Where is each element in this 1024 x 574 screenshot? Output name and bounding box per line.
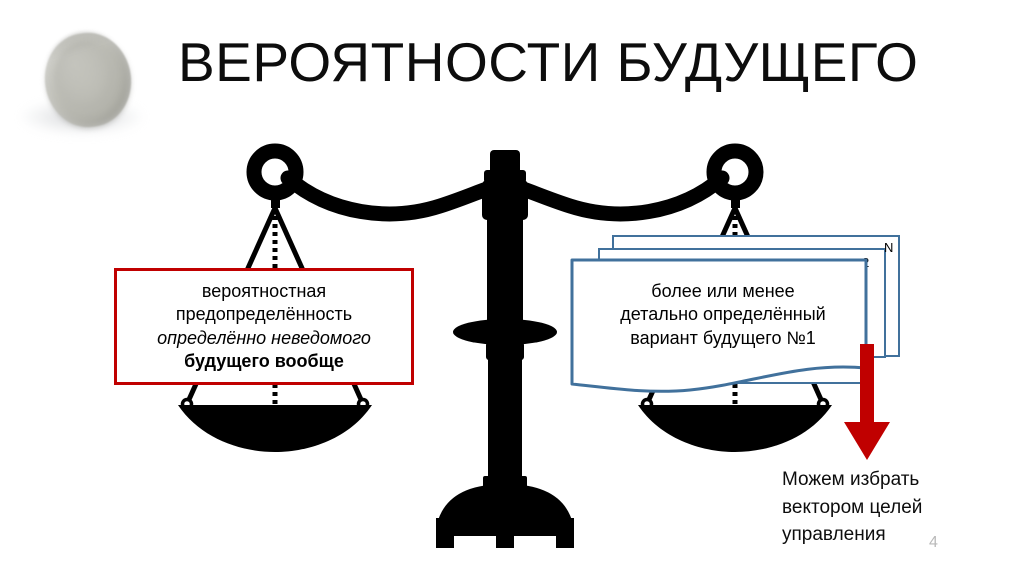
probabilistic-predetermination-box[interactable]: вероятностная предопределённость определ… xyxy=(114,268,414,385)
scale-ring-left xyxy=(254,151,296,193)
scale-left-pan xyxy=(178,405,372,452)
red-box-line-4: будущего вообще xyxy=(184,350,344,373)
red-box-line-3: определённо неведомого xyxy=(157,327,371,350)
caption-line-1: Можем избрать xyxy=(782,466,992,494)
red-box-line-2: предопределённость xyxy=(176,303,352,326)
scale-right-pan xyxy=(638,405,832,452)
slide-canvas: ВЕРОЯТНОСТИ БУДУЩЕГО xyxy=(0,0,1024,574)
variant-front-card-text: более или менее детально определённый ва… xyxy=(576,280,870,350)
coin-photo xyxy=(22,26,158,150)
slide-number: 4 xyxy=(929,534,938,552)
scale-beam xyxy=(288,178,722,214)
front-card-line-2: детально определённый xyxy=(576,303,870,326)
scale-ring-right xyxy=(714,151,756,193)
front-card-line-1: более или менее xyxy=(576,280,870,303)
down-arrow-icon xyxy=(840,344,894,460)
caption-line-2: вектором целей xyxy=(782,494,992,522)
scale-stand xyxy=(436,150,574,548)
red-box-line-1: вероятностная xyxy=(202,280,326,303)
caption-line-3: управления xyxy=(782,521,992,549)
front-card-line-3: вариант будущего №1 xyxy=(576,327,870,350)
variant-card-n-label: N xyxy=(884,241,893,254)
page-title: ВЕРОЯТНОСТИ БУДУЩЕГО xyxy=(178,34,898,92)
goal-vector-caption: Можем избрать вектором целей управления xyxy=(782,466,992,549)
